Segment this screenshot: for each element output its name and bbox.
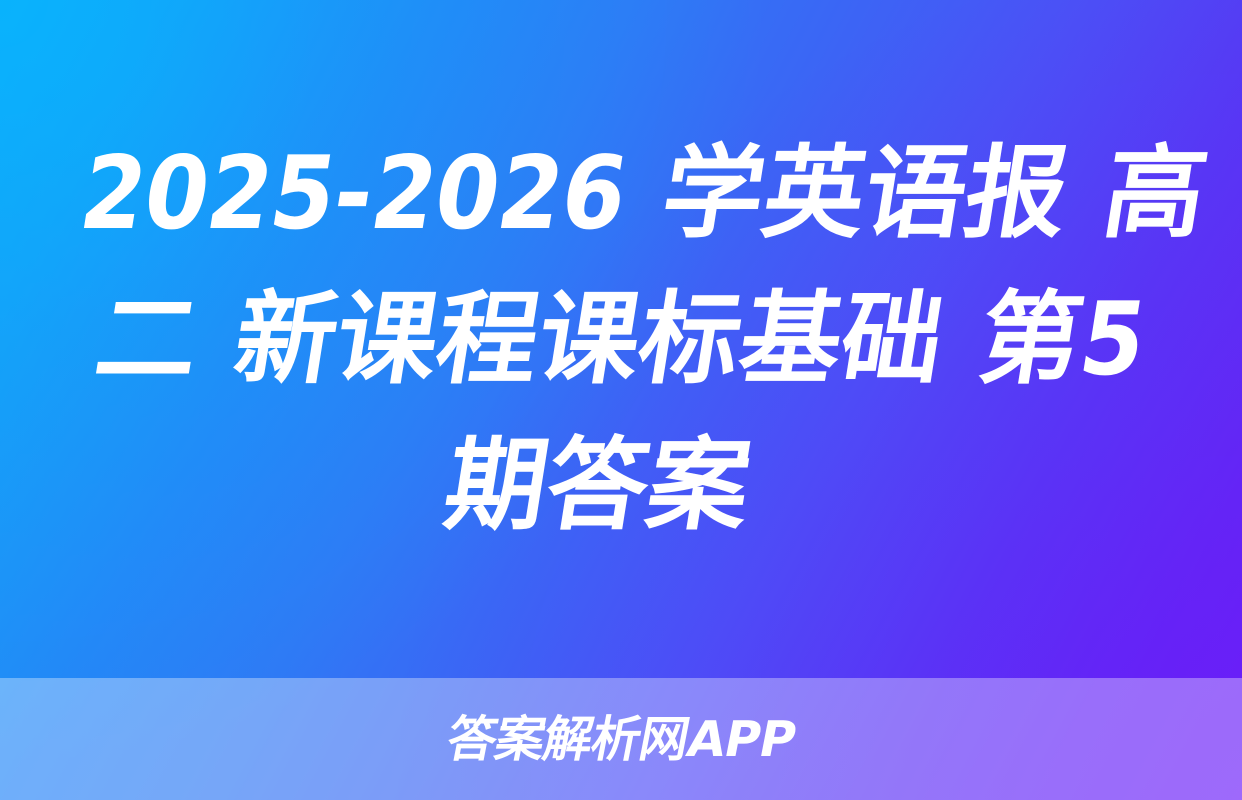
poster-title-area: 2025-2026 学英语报 高二 新课程课标基础 第5期答案 [0, 0, 1242, 678]
answer-poster-card: 2025-2026 学英语报 高二 新课程课标基础 第5期答案 答案解析网APP [0, 0, 1242, 800]
app-watermark-band: 答案解析网APP [0, 678, 1242, 800]
page-title: 2025-2026 学英语报 高二 新课程课标基础 第5期答案 [23, 120, 1218, 558]
app-watermark-label: 答案解析网APP [443, 715, 799, 764]
